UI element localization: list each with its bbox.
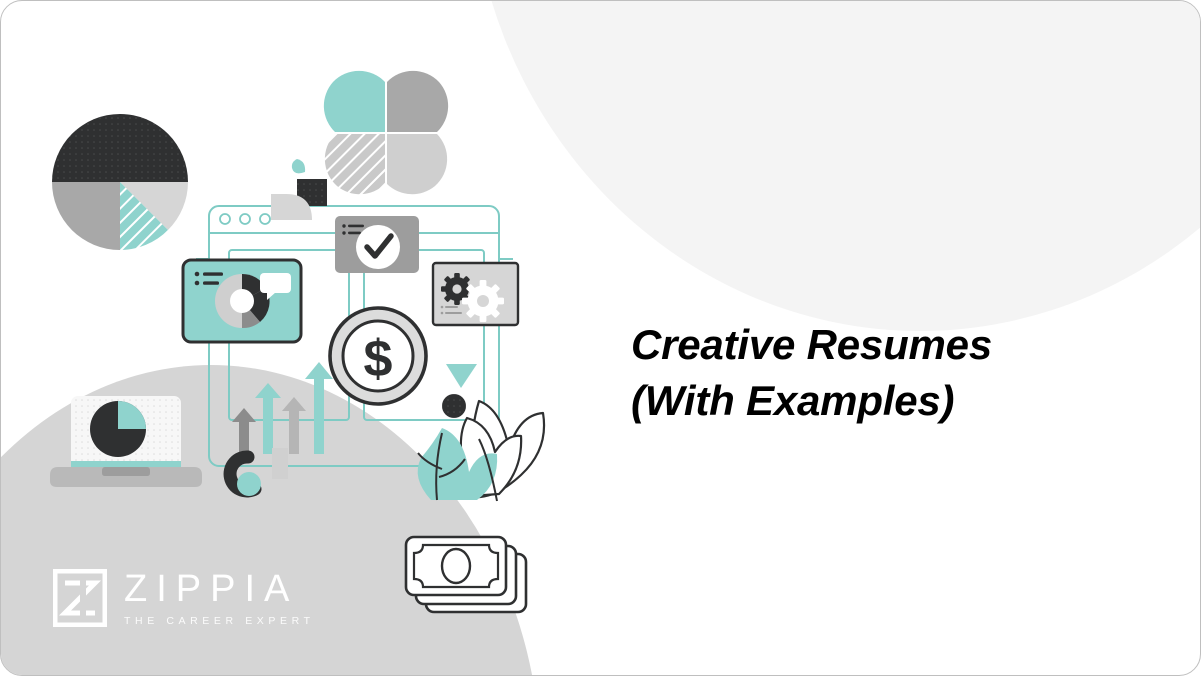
page-title: Creative Resumes (With Examples) xyxy=(631,317,1101,430)
browser-dots xyxy=(220,214,270,224)
zippia-z-mark-icon xyxy=(53,569,107,627)
promo-card: $ xyxy=(0,0,1201,676)
checkmark-card xyxy=(335,216,419,273)
clover-four-petals xyxy=(324,71,448,194)
gears-card xyxy=(433,263,518,325)
gray-rect-small xyxy=(272,448,288,479)
logo-tagline: THE CAREER EXPERT xyxy=(124,615,315,627)
plant-leaves xyxy=(418,401,544,501)
donut-chart-card xyxy=(183,260,301,342)
banknotes-stack xyxy=(406,537,526,612)
svg-text:$: $ xyxy=(364,330,393,388)
laptop-pie xyxy=(90,401,146,457)
dark-dot xyxy=(442,394,466,418)
pie-chart-large xyxy=(52,114,188,250)
title-line-2: (With Examples) xyxy=(631,373,1101,429)
teal-triangle xyxy=(446,364,477,388)
logo-brand: ZIPPIA xyxy=(124,570,315,608)
zippia-logo[interactable]: ZIPPIA THE CAREER EXPERT xyxy=(53,569,315,627)
logo-wordmark: ZIPPIA THE CAREER EXPERT xyxy=(124,570,315,627)
growth-arrows xyxy=(232,362,333,454)
title-line-1: Creative Resumes xyxy=(631,317,1101,373)
laptop-pie-chart xyxy=(50,396,202,487)
dollar-coin: $ xyxy=(330,308,426,404)
c-arc-shape xyxy=(230,457,261,496)
gear-icon-white xyxy=(462,280,504,322)
teal-leaf-small xyxy=(292,159,305,173)
